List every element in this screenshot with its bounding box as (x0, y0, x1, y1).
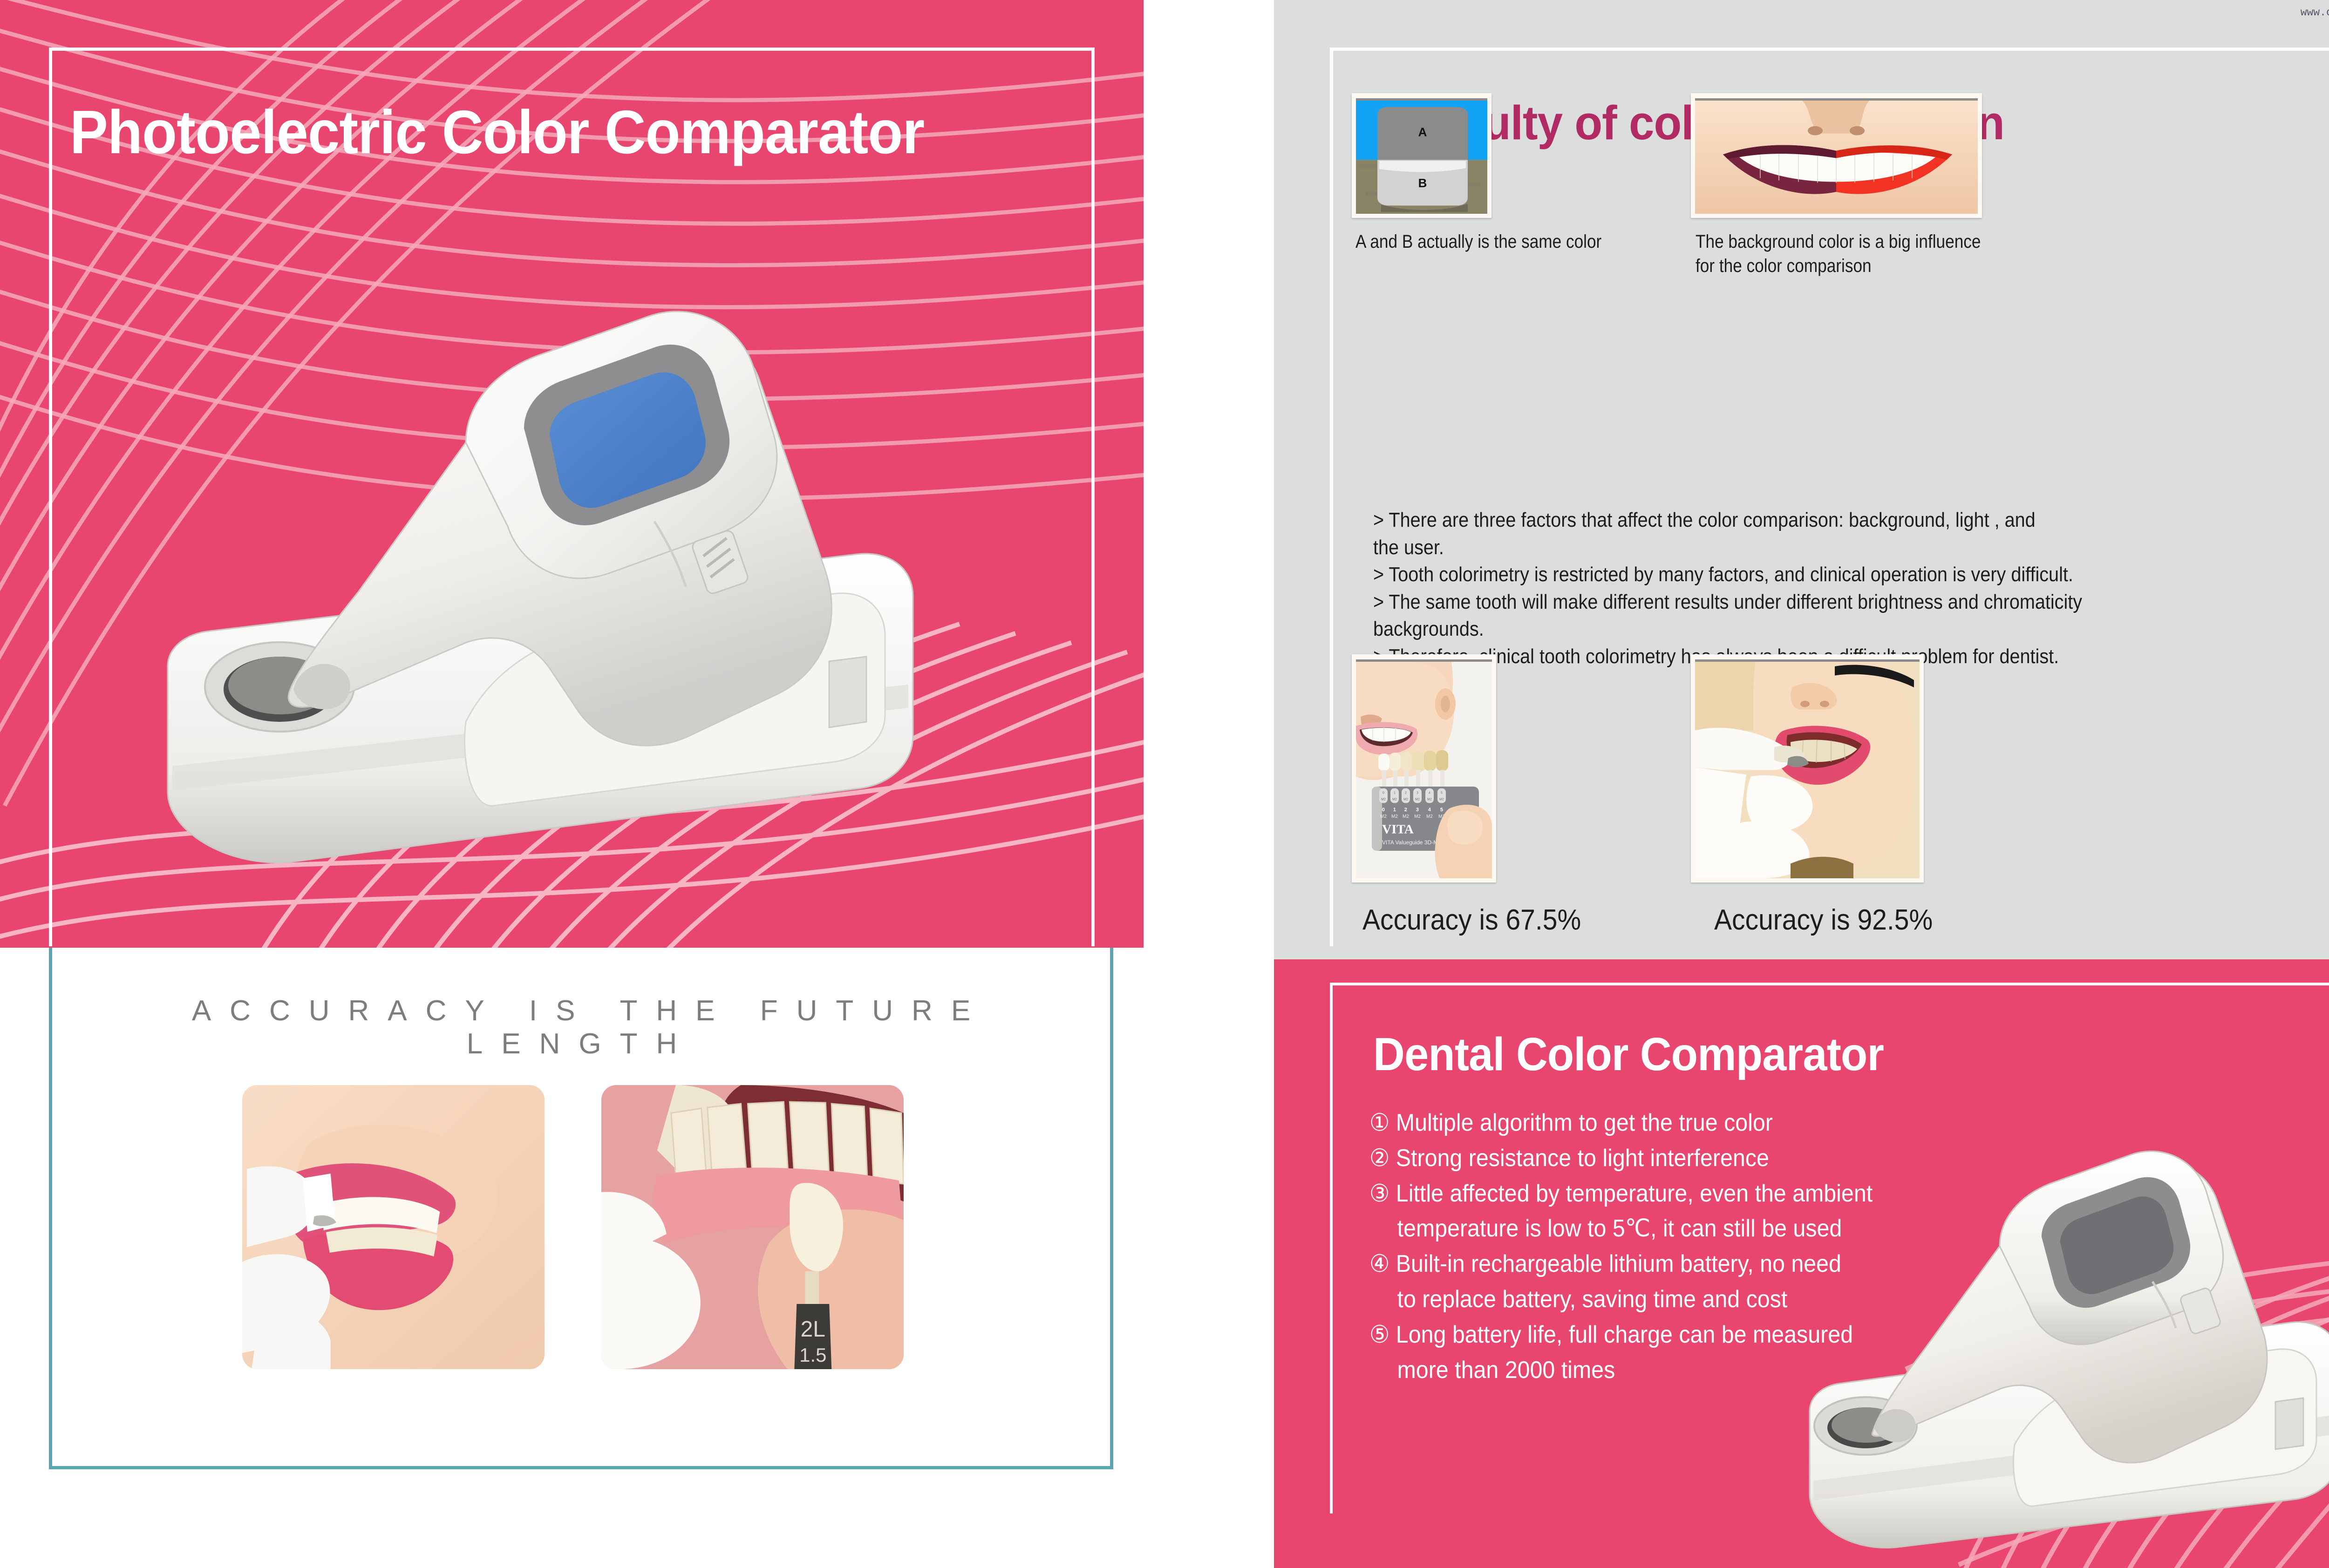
accuracy-label-left: Accuracy is 67.5% (1362, 903, 1581, 937)
right-panel: www.osakadental.com Difficulty of color … (1274, 0, 2329, 1568)
page-title: Photoelectric Color Comparator (70, 100, 980, 165)
illusion-label-b: B (1418, 177, 1427, 190)
feature-text-cont: to replace battery, saving time and cost (1369, 1283, 1985, 1317)
brochure-page: Photoelectric Color Comparator ACCURACY … (0, 0, 2329, 1568)
accuracy-label-right: Accuracy is 92.5% (1714, 903, 1933, 937)
caption-background-line2: for the color comparison (1696, 254, 2023, 278)
feature-number: ① (1369, 1109, 1389, 1136)
vita-logo-text: VITA (1382, 822, 1414, 837)
illusion-label-a: A (1418, 126, 1427, 139)
svg-text:0: 0 (1382, 807, 1385, 813)
photo-split-lipstick-smile (1691, 93, 1982, 218)
promo-feature-list: ① Multiple algorithm to get the true col… (1369, 1106, 1985, 1389)
svg-text:5: 5 (1441, 792, 1443, 795)
svg-text:M2: M2 (1439, 798, 1444, 801)
feature-text-cont: temperature is low to 5℃, it can still b… (1369, 1212, 1985, 1246)
svg-text:1: 1 (1394, 792, 1396, 795)
svg-text:M2: M2 (1427, 798, 1432, 801)
feature-number: ② (1369, 1145, 1389, 1172)
bullet-list: > There are three factors that affect th… (1373, 507, 2266, 670)
svg-text:1: 1 (1393, 807, 1396, 813)
bullet-line: > Tooth colorimetry is restricted by man… (1373, 561, 2266, 589)
caption-background-line1: The background color is a big influence (1696, 230, 2023, 254)
svg-text:M2: M2 (1403, 814, 1409, 819)
svg-text:4: 4 (1428, 807, 1431, 813)
promo-panel: Dental Color Comparator ① Multiple algor… (1274, 959, 2329, 1568)
svg-text:2L: 2L (801, 1317, 825, 1342)
cover-white-frame (49, 48, 1095, 946)
feature-text: Built-in rechargeable lithium battery, n… (1396, 1250, 1841, 1277)
svg-text:5: 5 (1440, 807, 1443, 813)
left-cover-panel: Photoelectric Color Comparator ACCURACY … (0, 0, 1144, 1568)
tagline-text: ACCURACY IS THE FUTURE LENGTH (52, 994, 1110, 1060)
site-watermark: www.osakadental.com (2301, 7, 2329, 19)
photo-device-measuring-teeth (1691, 654, 1924, 882)
svg-text:M2: M2 (1381, 798, 1386, 801)
svg-text:M2: M2 (1380, 814, 1387, 819)
caption-illusion-ab: A and B actually is the same color (1355, 230, 1642, 254)
feature-text: Little affected by temperature, even the… (1396, 1180, 1873, 1207)
svg-text:3: 3 (1416, 807, 1419, 813)
svg-text:M2: M2 (1426, 814, 1433, 819)
feature-text: Multiple algorithm to get the true color (1396, 1109, 1773, 1136)
bullet-line: > There are three factors that affect th… (1373, 507, 2266, 534)
feature-text: Long battery life, full charge can be me… (1396, 1321, 1853, 1348)
svg-text:2: 2 (1404, 807, 1407, 813)
svg-text:2: 2 (1405, 792, 1407, 795)
photo-checker-shadow-illusion: A B (1352, 93, 1491, 218)
photo-device-on-patient (242, 1085, 545, 1369)
svg-text:4: 4 (1429, 792, 1430, 795)
feature-text: Strong resistance to light interference (1396, 1145, 1769, 1172)
bullet-line: > The same tooth will make different res… (1373, 589, 2266, 616)
feature-number: ⑤ (1369, 1321, 1389, 1348)
bullet-line: backgrounds. (1373, 616, 2266, 643)
feature-text-cont: more than 2000 times (1369, 1353, 1985, 1388)
photo-shade-tab-comparison: 2L 1.5 (601, 1085, 904, 1369)
svg-text:M2: M2 (1415, 798, 1420, 801)
svg-text:M2: M2 (1391, 814, 1398, 819)
photo-vita-shade-guide: 012 345 M2M2M2 M2M2M2 012 345 M2M2M2 M2M… (1352, 654, 1496, 882)
svg-text:M2: M2 (1392, 798, 1397, 801)
feature-number: ④ (1369, 1250, 1389, 1277)
svg-text:3: 3 (1416, 792, 1418, 795)
svg-text:0: 0 (1382, 792, 1384, 795)
bullet-line: the user. (1373, 534, 2266, 562)
svg-text:M2: M2 (1403, 798, 1408, 801)
feature-number: ③ (1369, 1180, 1389, 1207)
promo-title: Dental Color Comparator (1373, 1028, 1884, 1081)
svg-text:1.5: 1.5 (799, 1344, 826, 1366)
svg-text:M2: M2 (1414, 814, 1421, 819)
left-photo-row: 2L 1.5 (242, 1085, 904, 1369)
